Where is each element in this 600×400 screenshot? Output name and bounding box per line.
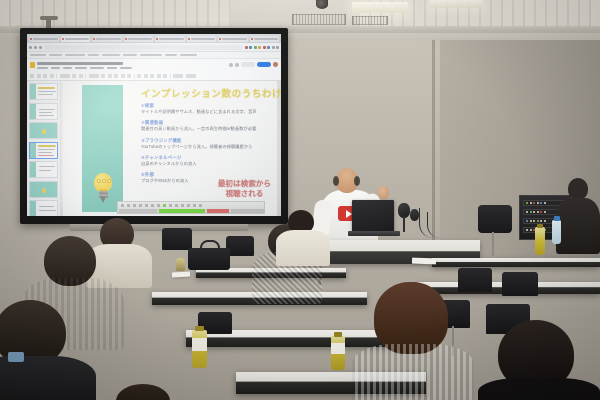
chair xyxy=(458,268,492,292)
tab-favicon-icon xyxy=(93,38,95,40)
tab-favicon-icon xyxy=(30,38,32,40)
tab-favicon-icon xyxy=(125,38,127,40)
tab-favicon-icon xyxy=(156,38,158,40)
editor-tool-icon[interactable] xyxy=(187,204,190,207)
slide-title: インプレッション数のうちわけ xyxy=(141,86,281,100)
editor-tool-icon[interactable] xyxy=(139,204,142,207)
lanyard xyxy=(8,352,24,362)
bottle-cap xyxy=(195,326,204,331)
microphone-head-2 xyxy=(410,209,419,221)
slide-bullet-list: ①検索 タイトルや説明欄やサムネ、動画などに含まれる文字、音声 ②関連動画 関連… xyxy=(141,103,273,190)
browser-tab[interactable] xyxy=(29,36,59,42)
screen-mount-bar xyxy=(40,16,58,20)
share-button[interactable] xyxy=(257,62,271,67)
screen-base-rail xyxy=(70,224,248,231)
chair-leg xyxy=(492,232,494,256)
image-icon[interactable] xyxy=(163,74,167,78)
extension-icon[interactable] xyxy=(272,46,275,49)
browser-tab[interactable] xyxy=(92,36,122,42)
slide-canvas[interactable]: インプレッション数のうちわけ ①検索 タイトルや説明欄やサムネ、動画などに含まれ… xyxy=(63,81,277,216)
menu-item[interactable] xyxy=(63,67,72,69)
url-input[interactable] xyxy=(44,45,243,50)
chair xyxy=(162,228,192,250)
presenter-laptop-screen xyxy=(352,200,394,232)
slides-app-header xyxy=(27,59,281,73)
timeline-clip[interactable] xyxy=(231,209,265,213)
menu-bar xyxy=(37,67,132,69)
browser-tab[interactable] xyxy=(155,36,185,42)
bookmark-item[interactable] xyxy=(49,54,62,56)
font-size-input[interactable] xyxy=(101,74,105,78)
bold-icon[interactable] xyxy=(108,74,112,78)
bookmarks-bar xyxy=(27,52,281,59)
papers xyxy=(412,258,436,265)
ceiling-vent-1 xyxy=(292,14,346,25)
bookmark-item[interactable] xyxy=(65,54,85,56)
ceiling-light-2 xyxy=(430,0,482,8)
editor-timeline-track[interactable] xyxy=(119,209,265,213)
slides-logo-icon xyxy=(30,62,35,68)
bullet-head: ③ブラウジング機能 xyxy=(141,138,273,144)
seminar-room-photo: インプレッション数のうちわけ ①検索 タイトルや説明欄やサムネ、動画などに含まれ… xyxy=(0,0,600,400)
tea-bottle-3 xyxy=(535,227,545,255)
reload-icon[interactable] xyxy=(39,46,42,49)
slide-thumbnail-selected[interactable] xyxy=(29,142,58,159)
timeline-clip[interactable] xyxy=(119,209,157,213)
history-icon[interactable] xyxy=(235,63,239,67)
link-icon[interactable] xyxy=(157,74,161,78)
editor-tool-icon[interactable] xyxy=(145,204,148,207)
browser-tab-strip xyxy=(27,34,281,43)
menu-item[interactable] xyxy=(75,67,87,69)
transition-button[interactable] xyxy=(186,74,196,78)
presenter-hair-right xyxy=(354,176,360,186)
editor-tool-icon[interactable] xyxy=(121,204,124,207)
annotation-line-2: 視聴される xyxy=(218,189,271,198)
slide-annotation: 最初は検索から 視聴される xyxy=(218,179,271,198)
slide-thumbnail[interactable] xyxy=(29,161,58,178)
presenter-hair-left xyxy=(333,176,339,186)
microphone-stem xyxy=(403,216,405,232)
extension-icon[interactable] xyxy=(263,46,266,49)
underline-icon[interactable] xyxy=(121,74,125,78)
slide-thumbnail[interactable] xyxy=(29,103,58,120)
editor-tool-icon-active[interactable] xyxy=(163,204,166,207)
editor-tool-icon[interactable] xyxy=(181,204,184,207)
menu-item[interactable] xyxy=(37,67,48,69)
tab-favicon-icon xyxy=(62,38,64,40)
small-object xyxy=(176,258,185,271)
bookmark-item[interactable] xyxy=(140,54,162,56)
bullet-body: タイトルや説明欄やサムネ、動画などに含まれる文字、音声 xyxy=(141,110,273,115)
bullet-body: 自身のチャンネルからの流入 xyxy=(141,162,273,167)
present-button[interactable] xyxy=(241,62,255,67)
background-button[interactable] xyxy=(173,74,183,78)
slide-thumbnail[interactable] xyxy=(29,181,58,198)
ceiling-light-1 xyxy=(352,2,408,13)
back-icon[interactable] xyxy=(29,46,32,49)
bookmark-item[interactable] xyxy=(88,54,99,56)
extension-icon[interactable] xyxy=(267,46,270,49)
font-select[interactable] xyxy=(89,74,99,78)
editor-tool-icon[interactable] xyxy=(151,204,154,207)
bottle-cap xyxy=(537,224,543,228)
bullet-body: 関連性の高い動画から流入。一定の再生時間or動画数が必要 xyxy=(141,127,273,132)
papers xyxy=(172,272,190,278)
browser-tab[interactable] xyxy=(187,36,217,42)
bookmark-item[interactable] xyxy=(102,54,120,56)
layout-icon[interactable] xyxy=(79,74,83,78)
chair xyxy=(478,205,512,233)
new-slide-icon[interactable] xyxy=(72,74,76,78)
line-spacing-icon[interactable] xyxy=(144,74,148,78)
comment-icon[interactable] xyxy=(229,63,233,67)
browser-tab[interactable] xyxy=(124,36,154,42)
browser-address-bar xyxy=(27,43,281,52)
editor-tool-icon[interactable] xyxy=(193,204,196,207)
presenter-hand xyxy=(378,186,389,199)
menu-item[interactable] xyxy=(51,67,60,69)
ceiling-grid-left xyxy=(0,0,230,28)
editor-tool-icon[interactable] xyxy=(169,204,172,207)
bookmark-item[interactable] xyxy=(30,54,46,56)
timeline-clip-green[interactable] xyxy=(159,209,205,213)
browser-tab-active[interactable] xyxy=(61,36,91,42)
undo-icon[interactable] xyxy=(30,74,34,78)
water-bottle xyxy=(552,220,561,244)
redo-icon[interactable] xyxy=(37,74,41,78)
extension-icon[interactable] xyxy=(245,46,248,49)
editor-tool-icon[interactable] xyxy=(199,204,202,207)
attendee-body-bottom-right xyxy=(478,378,600,400)
shoulder-bag xyxy=(188,248,230,270)
bottle-label xyxy=(331,343,345,354)
tab-favicon-icon xyxy=(251,38,253,40)
attendee-body-right-2 xyxy=(276,230,330,266)
attendee-body-far-right xyxy=(556,198,600,254)
text-color-icon[interactable] xyxy=(127,74,131,78)
editor-tool-icon[interactable] xyxy=(127,204,130,207)
document-title[interactable] xyxy=(37,62,123,65)
chair xyxy=(226,236,254,256)
slides-toolbar xyxy=(27,72,281,81)
extension-icon[interactable] xyxy=(254,46,257,49)
editor-tool-icon[interactable] xyxy=(175,204,178,207)
editor-tool-icon[interactable] xyxy=(133,204,136,207)
desk-row-back-right xyxy=(432,258,600,267)
slide-thumbnail[interactable] xyxy=(29,122,58,139)
tab-favicon-icon xyxy=(188,38,190,40)
bottle-label xyxy=(192,338,207,351)
video-editor-toolbar[interactable] xyxy=(117,201,265,214)
timeline-clip-red[interactable] xyxy=(207,209,229,213)
menu-item[interactable] xyxy=(120,67,132,69)
attendee-body-front-left xyxy=(0,356,96,400)
slide-filmstrip[interactable] xyxy=(27,81,61,216)
attendee-head-far-right xyxy=(568,178,588,200)
tab-favicon-icon xyxy=(219,38,221,40)
presenter-laptop-base xyxy=(348,231,400,236)
bookmark-item[interactable] xyxy=(180,54,197,56)
bullet-body: YouTubeのトップページから流入。視聴者の視聴履歴から xyxy=(141,145,273,150)
menu-item[interactable] xyxy=(90,67,104,69)
bottle-cap-blue xyxy=(554,216,560,221)
attendee-body-front-right xyxy=(352,344,474,400)
lightbulb-illustration xyxy=(93,173,113,203)
print-icon[interactable] xyxy=(43,74,47,78)
projected-display: インプレッション数のうちわけ ①検索 タイトルや説明欄やサムネ、動画などに含まれ… xyxy=(27,34,281,216)
extension-icon[interactable] xyxy=(258,46,261,49)
browser-tab[interactable] xyxy=(250,36,280,42)
bottle-cap xyxy=(334,332,342,337)
zoom-select[interactable] xyxy=(60,74,70,78)
bag-handle xyxy=(200,240,220,251)
slide-thumbnail[interactable] xyxy=(29,200,58,216)
header-actions xyxy=(229,62,278,67)
chair xyxy=(502,272,538,296)
align-icon[interactable] xyxy=(137,74,141,78)
extension-icons xyxy=(245,46,280,49)
forward-icon[interactable] xyxy=(34,46,37,49)
editor-tool-row xyxy=(119,203,265,208)
annotation-line-1: 最初は検索から xyxy=(218,179,271,188)
browser-tab[interactable] xyxy=(218,36,248,42)
extension-icon[interactable] xyxy=(249,46,252,49)
avatar[interactable] xyxy=(273,62,278,67)
paint-format-icon[interactable] xyxy=(50,74,54,78)
bookmark-item[interactable] xyxy=(123,54,137,56)
italic-icon[interactable] xyxy=(114,74,118,78)
editor-tool-icon[interactable] xyxy=(157,204,160,207)
list-icon[interactable] xyxy=(150,74,154,78)
ceiling-vent-2 xyxy=(352,16,388,25)
bookmark-item[interactable] xyxy=(165,54,177,56)
ceiling-speaker xyxy=(316,0,328,9)
slide-thumbnail[interactable] xyxy=(29,83,58,100)
profile-avatar-icon[interactable] xyxy=(276,46,279,49)
menu-item[interactable] xyxy=(107,67,117,69)
projection-screen-frame: インプレッション数のうちわけ ①検索 タイトルや説明欄やサムネ、動画などに含まれ… xyxy=(20,28,288,224)
